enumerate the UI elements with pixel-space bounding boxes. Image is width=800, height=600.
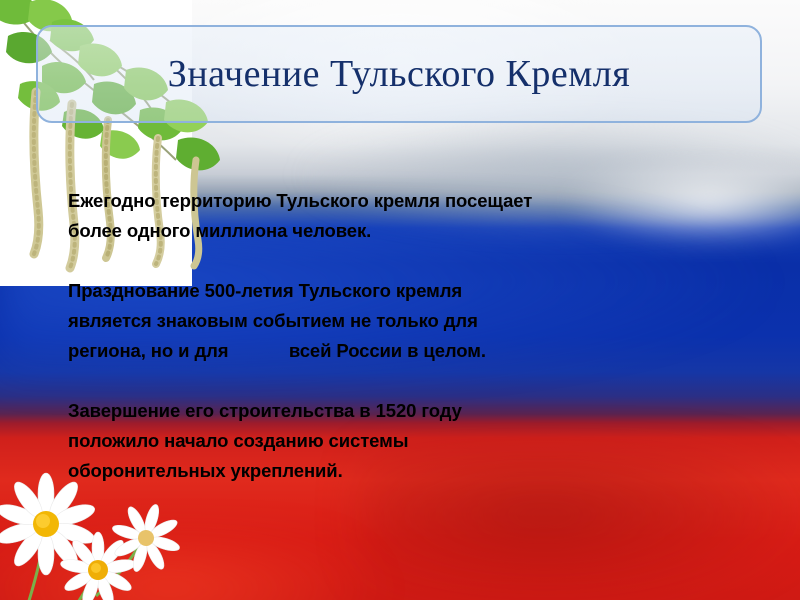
paragraph-2-line-2: является знаковым событием не только для	[68, 306, 768, 336]
page-title: Значение Тульского Кремля	[36, 25, 762, 123]
slide-body-text: Ежегодно территорию Тульского кремля пос…	[68, 186, 768, 486]
paragraph-2: Празднование 500-летия Тульского кремля …	[68, 276, 768, 366]
paragraph-3: Завершение его строительства в 1520 году…	[68, 396, 768, 486]
background-red-highlight	[0, 540, 380, 600]
presentation-slide: Значение Тульского Кремля Ежегодно терри…	[0, 0, 800, 600]
paragraph-3-line-2: положило начало созданию системы	[68, 426, 768, 456]
paragraph-2-line-1: Празднование 500-летия Тульского кремля	[68, 276, 768, 306]
paragraph-2-line-3: региона, но и для всей России в целом.	[68, 336, 768, 366]
paragraph-1-line-1: Ежегодно территорию Тульского кремля пос…	[68, 186, 768, 216]
paragraph-1: Ежегодно территорию Тульского кремля пос…	[68, 186, 768, 246]
paragraph-3-line-1: Завершение его строительства в 1520 году	[68, 396, 768, 426]
paragraph-3-line-3: оборонительных укреплений.	[68, 456, 768, 486]
paragraph-1-line-2: более одного миллиона человек.	[68, 216, 768, 246]
